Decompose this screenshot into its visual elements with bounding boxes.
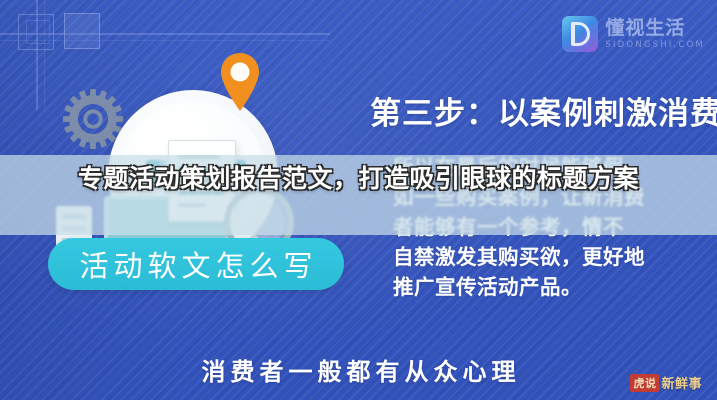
promotional-banner-image: 第三步：以案例刺激消费 所以在最后的时候能够假 如一些购买案例，让新消费 者能够… (0, 0, 717, 400)
map-pin-icon (218, 52, 262, 112)
topic-pill: 活动软文怎么写 (48, 238, 344, 290)
watermark-badge-text: 新鲜事 (661, 373, 702, 392)
watermark-brand-cn: 懂视生活 (605, 19, 705, 38)
body-line: 自禁激发其购买欲，更好地 (393, 242, 693, 272)
watermark-brand: 懂视生活 SIDONGSHI.COM (562, 16, 705, 52)
body-line: 推广宣传活动产品。 (393, 272, 693, 302)
topic-pill-label: 活动软文怎么写 (74, 243, 317, 285)
play-triangle-d-logo-icon (562, 16, 598, 52)
bottom-caption: 消费者一般都有从众心理 (0, 352, 717, 387)
headline: 第三步：以案例刺激消费 (370, 88, 717, 133)
watermark-brand-en: SIDONGSHI.COM (605, 41, 705, 50)
watermark-badge-mark: 虎说 (630, 374, 659, 392)
watermark-badge: 虎说 新鲜事 (630, 373, 702, 392)
overlay-title: 专题活动策划报告范文，打造吸引眼球的标题方案 (0, 162, 717, 196)
